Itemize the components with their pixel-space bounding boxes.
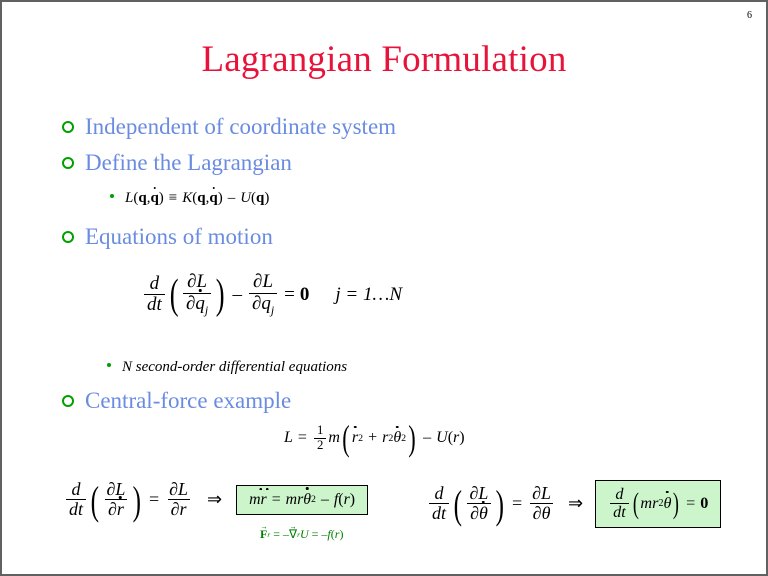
partial-symbol: ∂ bbox=[186, 293, 195, 314]
result-box-radial: mr = mrθ2 – f(r) bbox=[236, 485, 368, 515]
bullet-item-equations-of-motion: Equations of motion bbox=[62, 224, 273, 250]
symbol-U: U bbox=[300, 527, 309, 542]
numerator-partial-L: ∂L bbox=[184, 272, 210, 293]
partial-symbol: ∂ bbox=[108, 499, 117, 519]
bullet-label: Equations of motion bbox=[85, 224, 273, 250]
symbol-r: r bbox=[180, 499, 187, 519]
fraction-one-half: 1 2 bbox=[314, 424, 326, 453]
partial-symbol: ∂ bbox=[470, 503, 479, 523]
numerator-partial-L: ∂L bbox=[529, 484, 554, 503]
dot-bullet-icon bbox=[110, 194, 114, 198]
equation-central-force-lagrangian: L = 1 2 m ( r2 + r2θ2 ) – U (r) bbox=[284, 424, 465, 453]
paren-close: ) bbox=[459, 429, 464, 447]
numerator-partial-L: ∂L bbox=[166, 480, 191, 499]
symbol-rdot: r bbox=[117, 500, 124, 519]
equals-sign: = bbox=[312, 527, 319, 542]
fraction-partial-L-partial-rdot: ∂L ∂r bbox=[104, 480, 129, 520]
equals-sign: = bbox=[284, 284, 295, 306]
paren-close: ) bbox=[264, 190, 269, 207]
symbol-qdot: q bbox=[150, 190, 158, 207]
ring-bullet-icon bbox=[62, 231, 74, 243]
numerator-d: d bbox=[147, 274, 163, 295]
equals-sign: = bbox=[686, 494, 695, 513]
denominator-dt: dt bbox=[610, 503, 629, 521]
minus-sign: – bbox=[228, 190, 236, 207]
exponent-2: 2 bbox=[401, 433, 406, 444]
fraction-d-dt: d dt bbox=[144, 274, 165, 316]
numerator-partial-L: ∂L bbox=[250, 272, 276, 293]
symbol-K: K bbox=[182, 190, 192, 207]
numerator-one: 1 bbox=[314, 424, 326, 438]
symbol-q: q bbox=[261, 293, 271, 314]
exponent-2: 2 bbox=[358, 433, 363, 444]
implies-arrow-icon: ⇒ bbox=[568, 493, 583, 514]
paren-open: ( bbox=[342, 426, 349, 452]
result-box-angular: d dt ( mr2θ ) = 0 bbox=[595, 480, 721, 528]
paren-open: ( bbox=[91, 486, 99, 515]
subscript-r: r bbox=[267, 530, 270, 539]
denominator-partial-thetadot: ∂θ bbox=[467, 503, 491, 523]
numerator-d: d bbox=[612, 486, 626, 503]
nabla-vector-icon: ∇ bbox=[289, 527, 297, 542]
symbol-m: m bbox=[640, 494, 652, 513]
paren-open: ( bbox=[454, 490, 462, 519]
bullet-label: Independent of coordinate system bbox=[85, 114, 396, 140]
fraction-d-dt: d dt bbox=[610, 486, 629, 522]
symbol-qdot: q bbox=[209, 190, 217, 207]
symbol-m: m bbox=[249, 491, 260, 509]
fraction-d-dt: d dt bbox=[66, 480, 86, 520]
denominator-dt: dt bbox=[144, 294, 165, 316]
denominator-dt: dt bbox=[429, 503, 449, 523]
equation-lagrangian-definition: L ( q , q ) ≡ K ( q , q ) – U ( q ) bbox=[110, 190, 269, 207]
paren-close: ) bbox=[339, 527, 343, 542]
equals-sign: = bbox=[149, 489, 159, 510]
sub-bullet-item-differential-equations: N second-order differential equations bbox=[107, 359, 347, 376]
value-zero: 0 bbox=[300, 284, 310, 306]
symbol-q: q bbox=[197, 190, 205, 207]
paren-close: ) bbox=[218, 190, 223, 207]
note-force-gradient: Fr = –∇rU = –f(r) bbox=[260, 527, 343, 542]
symbol-rddot: r bbox=[261, 491, 267, 509]
paren-open: ( bbox=[169, 280, 178, 311]
symbol-theta: θ bbox=[542, 503, 551, 523]
page-number: 6 bbox=[747, 10, 752, 21]
minus-sign: – bbox=[321, 491, 329, 509]
equals-sign: = bbox=[512, 493, 522, 514]
subscript-j: j bbox=[271, 303, 274, 316]
paren-close: ) bbox=[496, 490, 504, 519]
bullet-item-central-force-example: Central-force example bbox=[62, 388, 291, 414]
minus-sign: – bbox=[423, 429, 431, 447]
denominator-partial-rdot: ∂r bbox=[105, 499, 127, 519]
fraction-partial-L-partial-r: ∂L ∂r bbox=[166, 480, 191, 520]
equation-euler-lagrange: d dt ( ∂L ∂qj ) – ∂L ∂qj = 0 j = 1…N bbox=[142, 272, 402, 317]
symbol-thetadot: θ bbox=[303, 491, 311, 509]
slide: 6 Lagrangian Formulation Independent of … bbox=[0, 0, 768, 576]
exponent-2: 2 bbox=[311, 494, 316, 505]
equals-sign: = bbox=[298, 429, 307, 447]
ring-bullet-icon bbox=[62, 157, 74, 169]
paren-close: ) bbox=[216, 280, 225, 311]
numerator-d: d bbox=[69, 480, 84, 499]
paren-close: ) bbox=[159, 190, 164, 207]
partial-symbol: ∂ bbox=[171, 499, 180, 519]
fraction-partial-L-partial-q-j: ∂L ∂qj bbox=[249, 272, 277, 317]
symbol-thetadot: θ bbox=[479, 504, 488, 523]
symbol-L: L bbox=[125, 190, 133, 207]
fraction-partial-L-partial-theta: ∂L ∂θ bbox=[529, 484, 554, 524]
denominator-partial-q-j: ∂qj bbox=[249, 293, 277, 318]
symbol-F-vector: F bbox=[260, 527, 267, 542]
partial-symbol: ∂ bbox=[533, 503, 542, 523]
equation-angular-euler-lagrange: d dt ( ∂L ∂θ ) = ∂L ∂θ ⇒ d dt ( mr2θ ) =… bbox=[427, 480, 721, 528]
lagrangian-definition-math: L ( q , q ) ≡ K ( q , q ) – U ( q ) bbox=[125, 190, 269, 207]
symbol-L: L bbox=[178, 479, 188, 499]
ring-bullet-icon bbox=[62, 395, 74, 407]
equiv-sign: ≡ bbox=[169, 190, 177, 207]
subscript-j: j bbox=[205, 303, 208, 316]
denominator-two: 2 bbox=[314, 438, 326, 453]
symbol-L: L bbox=[197, 271, 208, 292]
symbol-thetadot: θ bbox=[393, 429, 401, 447]
symbol-q: q bbox=[138, 190, 146, 207]
ring-bullet-icon bbox=[62, 121, 74, 133]
sub-bullet-label: N second-order differential equations bbox=[122, 359, 347, 376]
value-zero: 0 bbox=[700, 494, 708, 513]
symbol-L: L bbox=[262, 271, 273, 292]
bullet-label: Central-force example bbox=[85, 388, 291, 414]
dot-bullet-icon bbox=[107, 363, 111, 367]
symbol-L: L bbox=[284, 429, 293, 447]
index-range: j = 1…N bbox=[335, 284, 402, 306]
partial-symbol: ∂ bbox=[169, 479, 178, 499]
symbol-m: m bbox=[328, 429, 340, 447]
paren-close: ) bbox=[408, 426, 415, 452]
symbol-L: L bbox=[541, 483, 551, 503]
bullet-label: Define the Lagrangian bbox=[85, 150, 292, 176]
partial-symbol: ∂ bbox=[252, 293, 261, 314]
symbol-U: U bbox=[436, 429, 448, 447]
partial-symbol: ∂ bbox=[187, 271, 196, 292]
equals-sign: = bbox=[272, 491, 281, 509]
paren-close: ) bbox=[673, 494, 679, 515]
fraction-d-dt: d dt bbox=[429, 484, 449, 524]
paren-close: ) bbox=[350, 491, 355, 509]
symbol-q: q bbox=[256, 190, 264, 207]
denominator-partial-theta: ∂θ bbox=[530, 503, 554, 523]
partial-symbol: ∂ bbox=[532, 483, 541, 503]
denominator-partial-qdot-j: ∂qj bbox=[183, 293, 211, 318]
symbol-thetadot: θ bbox=[663, 494, 671, 513]
fraction-partial-L-partial-thetadot: ∂L ∂θ bbox=[467, 484, 492, 524]
symbol-qdot: q bbox=[195, 294, 205, 315]
symbol-rdot: r bbox=[352, 429, 358, 447]
denominator-partial-r: ∂r bbox=[168, 499, 190, 519]
minus-sign: – bbox=[232, 284, 242, 306]
symbol-m: m bbox=[286, 491, 297, 509]
numerator-d: d bbox=[432, 484, 447, 503]
equation-radial-euler-lagrange: d dt ( ∂L ∂r ) = ∂L ∂r ⇒ mr = mrθ2 – f(r… bbox=[64, 480, 368, 520]
symbol-U: U bbox=[240, 190, 251, 207]
bullet-item-independent: Independent of coordinate system bbox=[62, 114, 396, 140]
denominator-dt: dt bbox=[66, 499, 86, 519]
plus-sign: + bbox=[368, 429, 377, 447]
numerator-partial-L: ∂L bbox=[104, 480, 129, 499]
fraction-partial-L-partial-qdot-j: ∂L ∂qj bbox=[183, 272, 211, 317]
implies-arrow-icon: ⇒ bbox=[207, 489, 222, 510]
paren-close: ) bbox=[133, 486, 141, 515]
equals-sign: = bbox=[273, 527, 280, 542]
numerator-partial-L: ∂L bbox=[467, 484, 492, 503]
page-title: Lagrangian Formulation bbox=[2, 38, 766, 81]
paren-open: ( bbox=[633, 494, 639, 515]
bullet-item-define-lagrangian: Define the Lagrangian bbox=[62, 150, 292, 176]
